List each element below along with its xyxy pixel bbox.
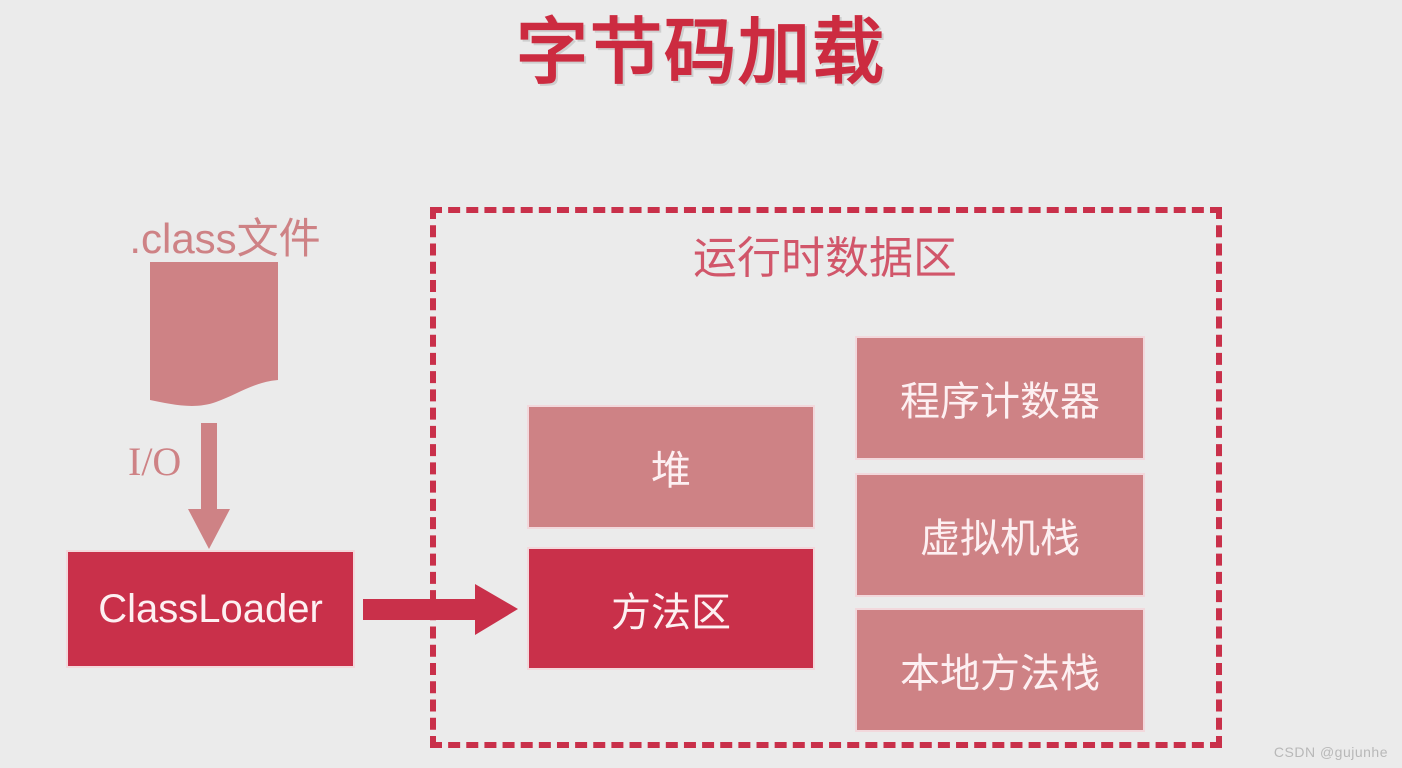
vm-stack-label: 虚拟机栈 <box>920 506 1080 564</box>
diagram-canvas: 字节码加载 .class文件 I/O ClassLoader 运行时数据区 堆 … <box>0 0 1402 768</box>
runtime-data-area-title: 运行时数据区 <box>600 222 1050 286</box>
native-method-stack-label: 本地方法栈 <box>900 641 1100 699</box>
down-arrow-icon <box>188 423 230 549</box>
method-area-box[interactable]: 方法区 <box>527 547 815 670</box>
watermark: CSDN @gujunhe <box>1274 744 1388 760</box>
program-counter-label: 程序计数器 <box>900 369 1100 427</box>
io-label: I/O <box>128 438 181 485</box>
vm-stack-box[interactable]: 虚拟机栈 <box>855 473 1145 597</box>
heap-box[interactable]: 堆 <box>527 405 815 529</box>
page-title: 字节码加载 <box>0 14 1402 93</box>
program-counter-box[interactable]: 程序计数器 <box>855 336 1145 460</box>
native-method-stack-box[interactable]: 本地方法栈 <box>855 608 1145 732</box>
method-area-label: 方法区 <box>611 580 731 638</box>
heap-label: 堆 <box>651 438 691 496</box>
class-file-label: .class文件 <box>60 205 390 266</box>
classloader-box[interactable]: ClassLoader <box>66 550 355 668</box>
class-file-document-icon <box>150 262 278 407</box>
classloader-label: ClassLoader <box>98 587 323 632</box>
